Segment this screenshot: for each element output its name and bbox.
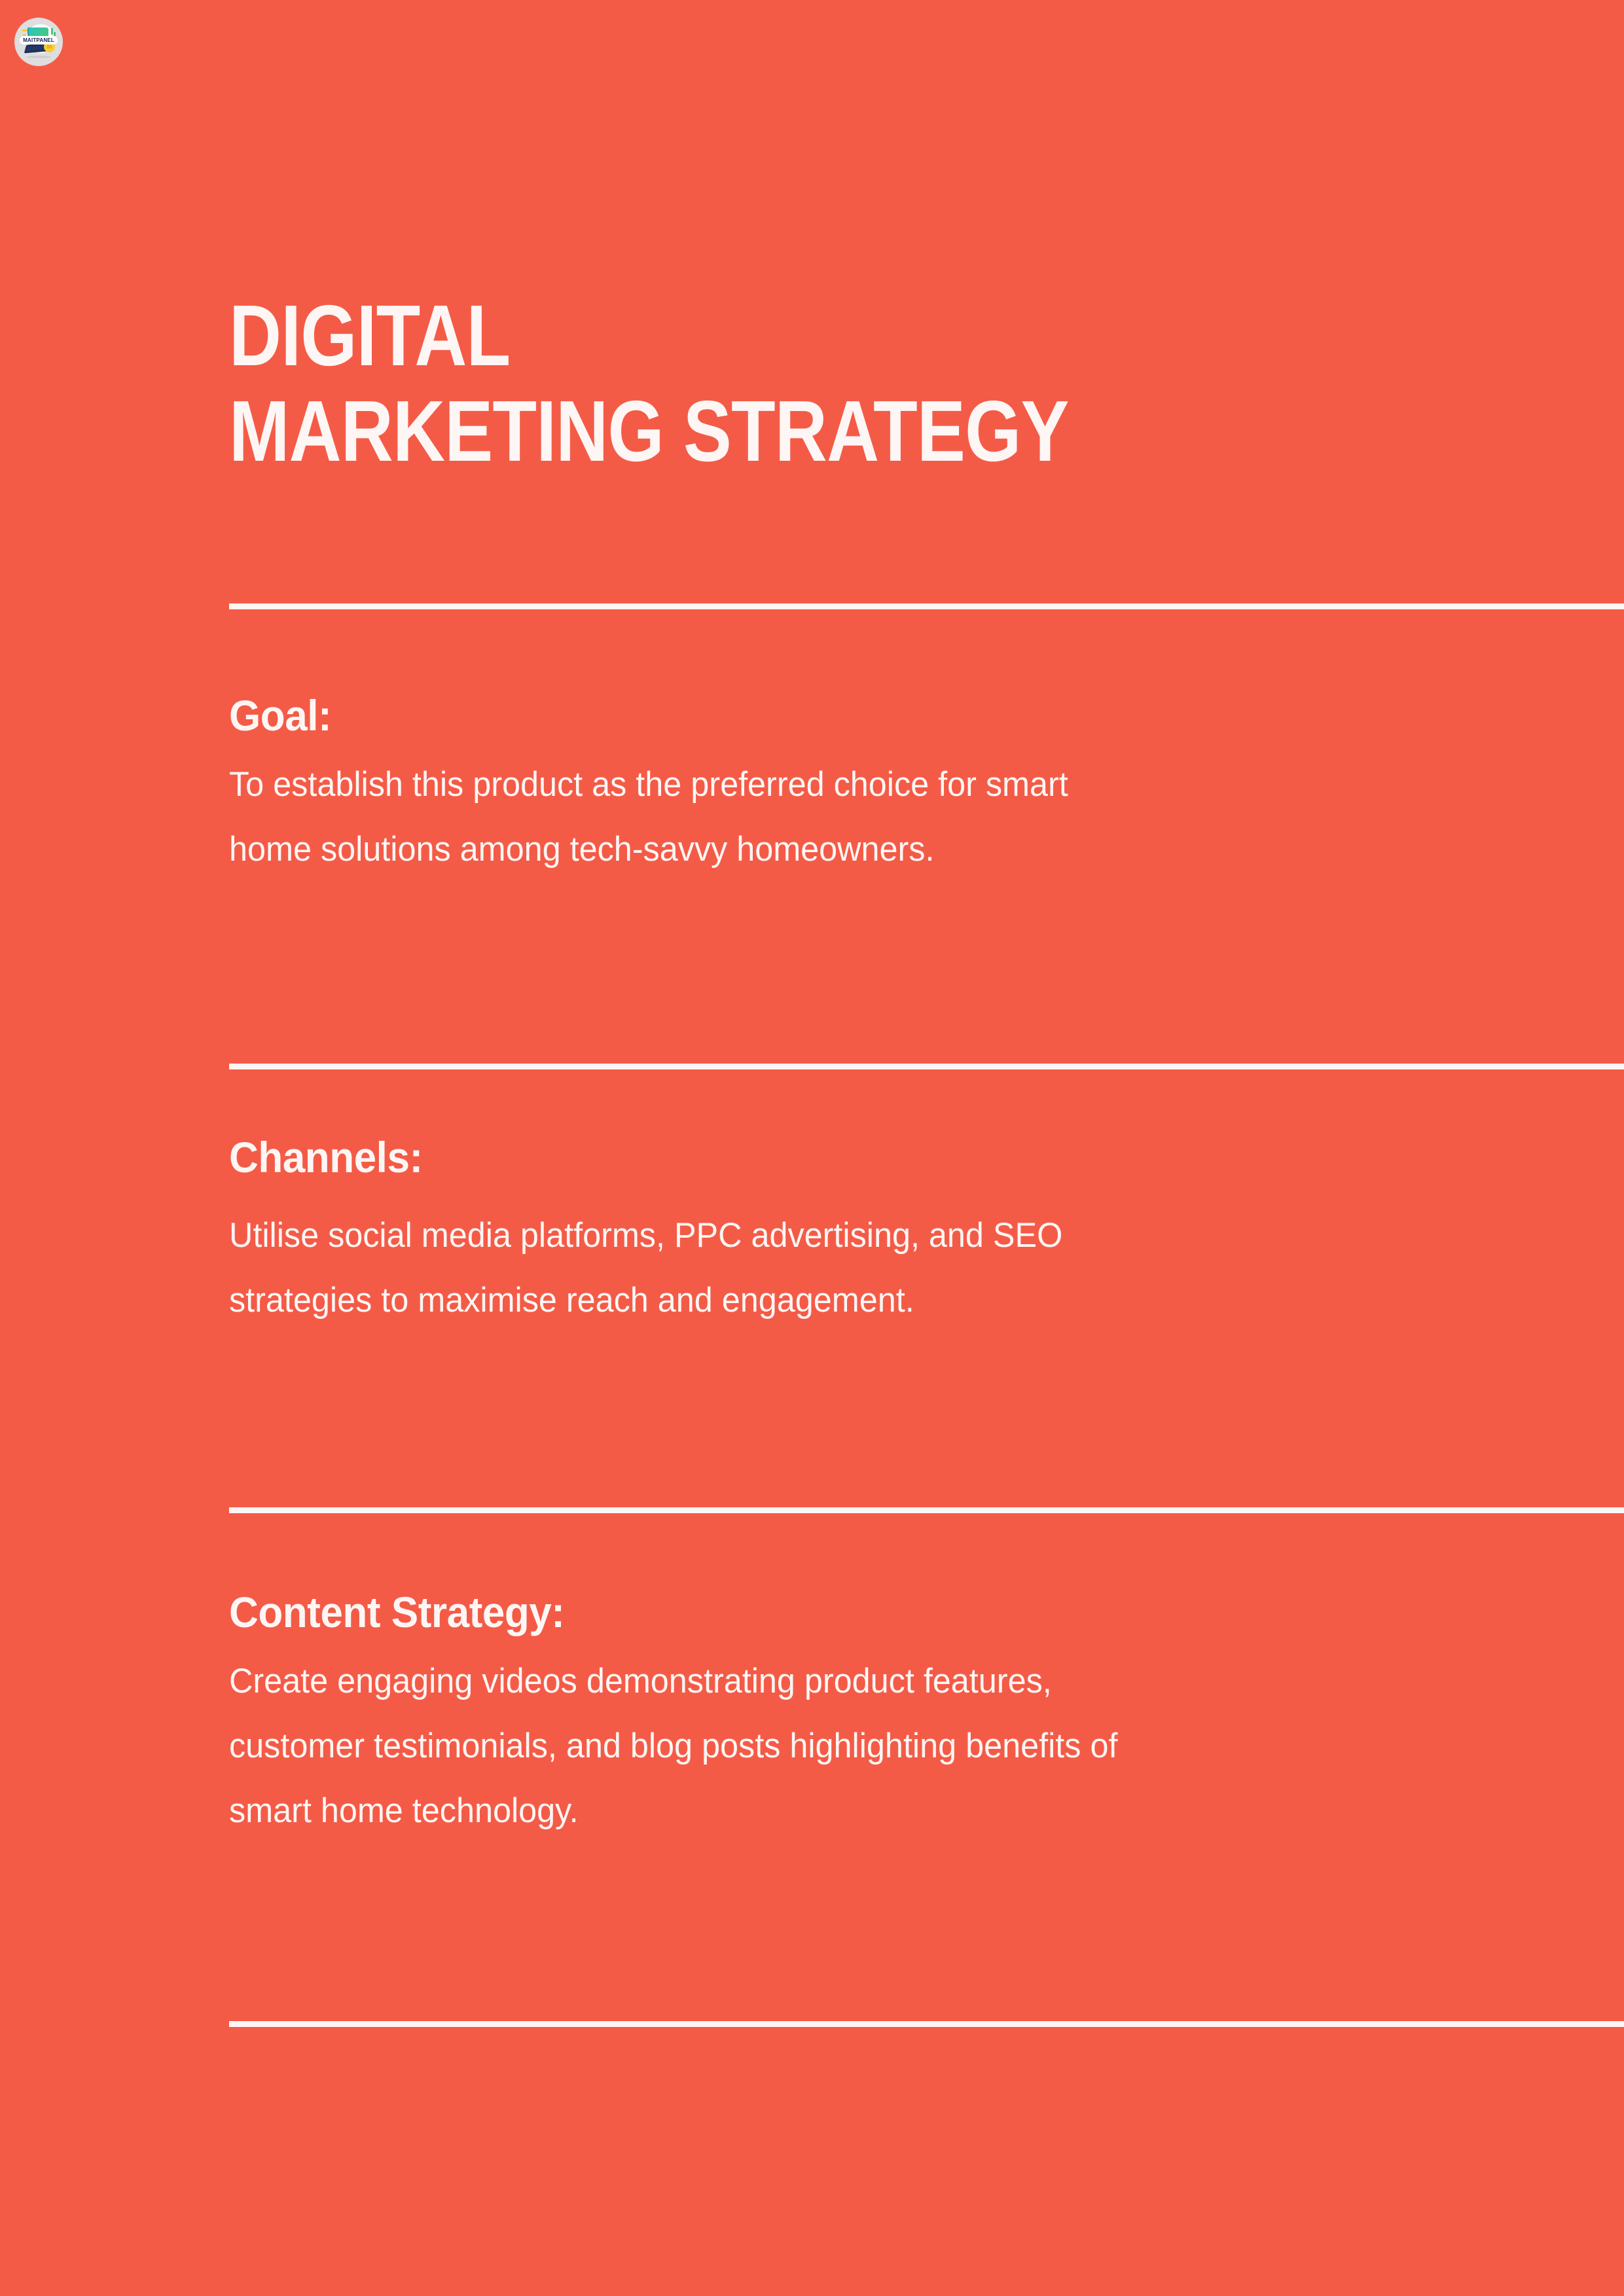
section-channels: Channels: Utilise social media platforms… — [229, 1132, 1211, 1333]
divider-above-content-strategy — [229, 1507, 1624, 1513]
divider-bottom — [229, 2021, 1624, 2027]
logo-wordmark-text: MAITPANEL — [23, 37, 54, 43]
section-goal-body: To establish this product as the preferr… — [229, 752, 1144, 882]
logo-wordmark-pill: MAITPANEL — [20, 36, 58, 45]
section-content-strategy: Content Strategy: Create engaging videos… — [229, 1587, 1211, 1843]
divider-above-channels — [229, 1064, 1624, 1069]
section-goal: Goal: To establish this product as the p… — [229, 691, 1211, 882]
divider-above-goal — [229, 603, 1624, 609]
page-content: DIGITAL MARKETING STRATEGY Goal: To esta… — [229, 0, 1624, 2296]
logo-drop-shadow — [26, 56, 51, 58]
maitpanel-logo[interactable]: M MAITPANEL — [14, 18, 63, 66]
logo-accent-green-bar — [51, 28, 53, 35]
section-content-strategy-heading: Content Strategy: — [229, 1587, 1152, 1637]
logo-accent-yellow-bar — [22, 29, 27, 31]
page-title: DIGITAL MARKETING STRATEGY — [229, 288, 1069, 479]
section-goal-heading: Goal: — [229, 691, 1152, 740]
section-channels-heading: Channels: — [229, 1132, 1152, 1182]
section-channels-body: Utilise social media platforms, PPC adve… — [229, 1203, 1144, 1333]
section-content-strategy-body: Create engaging videos demonstrating pro… — [229, 1649, 1144, 1843]
